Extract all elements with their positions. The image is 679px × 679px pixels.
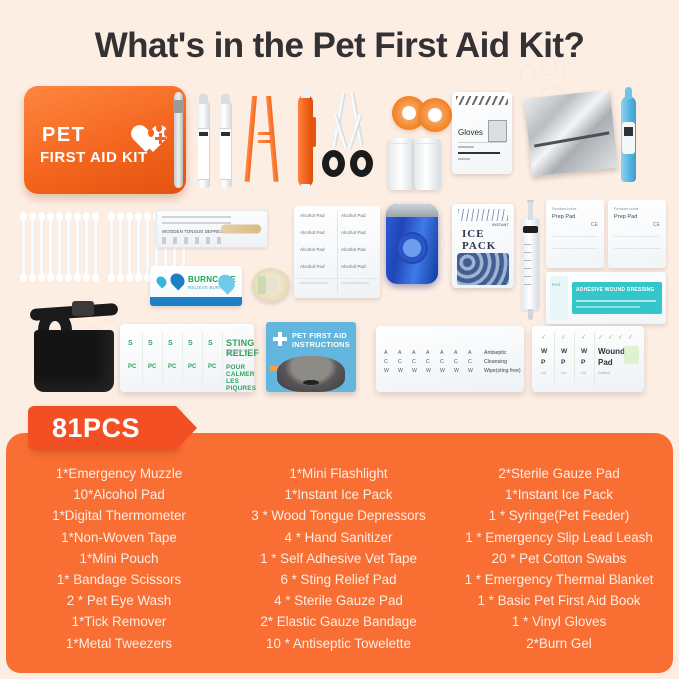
content-line: 10 * Antiseptic Towelette <box>232 633 445 654</box>
wound-w: W <box>541 348 547 355</box>
wipe-a: A <box>384 350 388 356</box>
wipe-w: W <box>454 368 459 374</box>
content-line: 1*Mini Flashlight <box>232 463 445 484</box>
content-line: 1*Instant Ice Pack <box>445 484 673 505</box>
elastic-gauze-bandage <box>388 138 415 190</box>
wipe-a: A <box>412 350 416 356</box>
wipe-w: W <box>440 368 445 374</box>
gloves-label: Gloves <box>458 128 483 137</box>
content-line: 1*Instant Ice Pack <box>232 484 445 505</box>
contents-columns: 1*Emergency Muzzle10*Alcohol Pad1*Digita… <box>6 463 673 654</box>
content-line: 4 * Sterile Gauze Pad <box>232 590 445 611</box>
wood-tongue-depressor-pack: WOODEN TONGUE DEPRESSOR <box>156 210 268 248</box>
wipe-w: W <box>384 368 389 374</box>
piece-count-badge: 81PCS <box>28 406 176 450</box>
elastic-gauze-bandage <box>414 138 441 190</box>
pet-first-aid-instructions-booklet: PET FIRST AID INSTRUCTIONS <box>266 322 356 392</box>
alcohol-pad-label: Alcohol Pad <box>341 264 366 269</box>
sting-pc: PC <box>128 364 136 370</box>
product-infographic: What's in the Pet First Aid Kit? PET FIR… <box>0 0 679 679</box>
alcohol-pad-label: Alcohol Pad <box>300 230 325 235</box>
pet-feeder-syringe <box>522 218 539 310</box>
wound-w: W <box>561 348 567 355</box>
wound-p: P <box>541 359 545 366</box>
kit-brand-line1: PET <box>42 124 85 147</box>
buckle-icon <box>72 301 94 316</box>
wipe-a: A <box>454 350 458 356</box>
contents-column-1: 1*Emergency Muzzle10*Alcohol Pad1*Digita… <box>6 463 232 654</box>
prep-pad-name: Prep Pad <box>552 214 575 220</box>
pet-eye-wash-bottle <box>197 102 210 188</box>
wound-p: P <box>561 359 565 366</box>
content-line: 1 * Emergency Slip Lead Leash <box>445 527 673 548</box>
sting-pc: PC <box>148 364 156 370</box>
wipe-c: C <box>454 359 458 365</box>
sting-letter: S <box>168 340 173 347</box>
metal-tweezers <box>252 96 278 182</box>
content-line: 20 * Pet Cotton Swabs <box>445 548 673 569</box>
pet-cotton-swabs-group <box>22 216 100 282</box>
content-line: 1 * Vinyl Gloves <box>445 611 673 632</box>
contents-column-3: 2*Sterile Gauze Pad1*Instant Ice Pack1 *… <box>445 463 673 654</box>
alcohol-pad-label: Alcohol Pad <box>300 264 325 269</box>
alcohol-pad-label: Alcohol Pad <box>300 247 325 252</box>
pet-first-aid-kit-case: PET FIRST AID KIT <box>24 86 186 194</box>
product-photo-board: PET FIRST AID KIT <box>0 78 679 400</box>
wipe-c: C <box>426 359 430 365</box>
prep-pad-brand: Povidone-Iodine <box>614 207 639 211</box>
wipe-a: A <box>426 350 430 356</box>
contents-column-2: 1*Mini Flashlight1*Instant Ice Pack3 * W… <box>232 463 445 654</box>
wound-w: W <box>581 348 587 355</box>
scissor-ring <box>322 150 345 177</box>
content-line: 1*Emergency Muzzle <box>6 463 232 484</box>
pet-eye-wash-bottle <box>219 102 232 188</box>
page-title: What's in the Pet First Aid Kit? <box>0 26 679 66</box>
zipper-icon <box>174 92 183 188</box>
prep-pad-brand: Povidone-Iodine <box>552 207 577 211</box>
content-line: 1*Digital Thermometer <box>6 505 232 526</box>
wound-pad-line2: Pad <box>598 358 613 367</box>
wipe-c: C <box>440 359 444 365</box>
content-line: 6 * Sting Relief Pad <box>232 569 445 590</box>
antiseptic-towelette-sheet: A C W A C W A C W A C W A C W A C W A C … <box>376 326 524 392</box>
non-woven-tape-roll <box>252 268 290 302</box>
content-line: 1*Metal Tweezers <box>6 633 232 654</box>
povidone-iodine-prep-pad: Povidone-Iodine Prep Pad CE <box>546 200 604 268</box>
content-line: 4 * Hand Sanitizer <box>232 527 445 548</box>
content-line: 1*Mini Pouch <box>6 548 232 569</box>
emergency-muzzle <box>24 300 124 392</box>
bandage-scissors <box>320 92 380 188</box>
wipe-c: C <box>384 359 388 365</box>
sterile-gauze-wound-pad-sheet: ✓ ✓ ✓ ✓ ✓ ✓ ✓ W P W P W P Wound Pad Lot … <box>532 326 644 392</box>
content-line: 1* Bandage Scissors <box>6 569 232 590</box>
prep-pad-name: Prep Pad <box>614 214 637 220</box>
emergency-thermal-blanket <box>524 90 618 177</box>
wound-pad-line1: Wound <box>598 347 625 356</box>
povidone-iodine-prep-pad: Povidone-Iodine Prep Pad CE <box>608 200 666 268</box>
content-line: 2*Burn Gel <box>445 633 673 654</box>
content-line: 10*Alcohol Pad <box>6 484 232 505</box>
content-line: 2*Sterile Gauze Pad <box>445 463 673 484</box>
adhesive-wound-dressing: PCS ADHESIVE WOUND DRESSING <box>546 272 666 324</box>
content-line: 1 * Self Adhesive Vet Tape <box>232 548 445 569</box>
sting-relief-note: POUR CALMER LES PIQURES <box>226 364 256 392</box>
sting-letter: S <box>188 340 193 347</box>
glove-picture <box>488 120 507 142</box>
booklet-title: PET FIRST AID INSTRUCTIONS <box>292 331 356 349</box>
alcohol-pad-label: Alcohol Pad <box>341 247 366 252</box>
tick-remover-pen <box>298 95 313 187</box>
wipe-w: W <box>468 368 473 374</box>
wipe-w: W <box>426 368 431 374</box>
ice-pack-title: ICE PACK <box>462 228 514 252</box>
wipe-w: W <box>398 368 403 374</box>
content-line: 1*Tick Remover <box>6 611 232 632</box>
sting-pc: PC <box>168 364 176 370</box>
wipe-a: A <box>398 350 402 356</box>
piece-count-label: 81PCS <box>52 413 140 444</box>
wound-p: P <box>581 359 585 366</box>
alcohol-pad-label: Alcohol Pad <box>341 230 366 235</box>
wipe-line3: Wipe(sting free) <box>484 368 521 374</box>
dressing-teal-band: ADHESIVE WOUND DRESSING <box>572 282 662 314</box>
sting-letter: S <box>208 340 213 347</box>
sting-letter: S <box>128 340 133 347</box>
alcohol-pad-sheet: Alcohol Pad Alcohol Pad Alcohol Pad Alco… <box>294 206 380 298</box>
content-line: 1 * Basic Pet First Aid Book <box>445 590 673 611</box>
wound-dressing-label: ADHESIVE WOUND DRESSING <box>576 287 655 293</box>
alcohol-pad-label: Alcohol Pad <box>300 213 325 218</box>
sting-pc: PC <box>188 364 196 370</box>
mini-flashlight <box>386 204 438 284</box>
sting-pc: PC <box>208 364 216 370</box>
wipe-line1: Antiseptic <box>484 350 507 356</box>
scissor-ring <box>350 150 373 177</box>
digital-thermometer <box>621 96 636 182</box>
wipe-w: W <box>412 368 417 374</box>
alcohol-pad-label: Alcohol Pad <box>341 213 366 218</box>
wipe-c: C <box>398 359 402 365</box>
wipe-c: C <box>468 359 472 365</box>
content-line: 1 * Emergency Thermal Blanket <box>445 569 673 590</box>
content-line: 2 * Pet Eye Wash <box>6 590 232 611</box>
content-line: 3 * Wood Tongue Depressors <box>232 505 445 526</box>
ice-pack-subtitle: INSTANT <box>492 222 509 227</box>
sting-relief-subtitle: MEDICATED PAD <box>228 349 254 357</box>
dog-photo <box>277 356 345 392</box>
burn-gel-package: BURNCARE RELIEVE BURN GEL <box>150 266 242 306</box>
wipe-c: C <box>412 359 416 365</box>
medical-cross-icon <box>273 332 287 346</box>
wipe-line2: Cleansing <box>484 359 507 365</box>
kit-brand-line2: FIRST AID KIT <box>40 149 148 166</box>
vet-tape-roll <box>418 98 452 132</box>
wipe-a: A <box>468 350 472 356</box>
serrated-edge <box>456 96 508 105</box>
wipe-a: A <box>440 350 444 356</box>
content-line: 2* Elastic Gauze Bandage <box>232 611 445 632</box>
vinyl-gloves-package: Gloves <box>452 92 512 174</box>
content-line: 1 * Syringe(Pet Feeder) <box>445 505 673 526</box>
instant-ice-pack: INSTANT ICE PACK <box>452 204 514 288</box>
sting-letter: S <box>148 340 153 347</box>
sting-relief-pad-sheet: S S S S S PC PC PC PC PC STING RELIEF ME… <box>120 324 254 392</box>
content-line: 1*Non-Woven Tape <box>6 527 232 548</box>
